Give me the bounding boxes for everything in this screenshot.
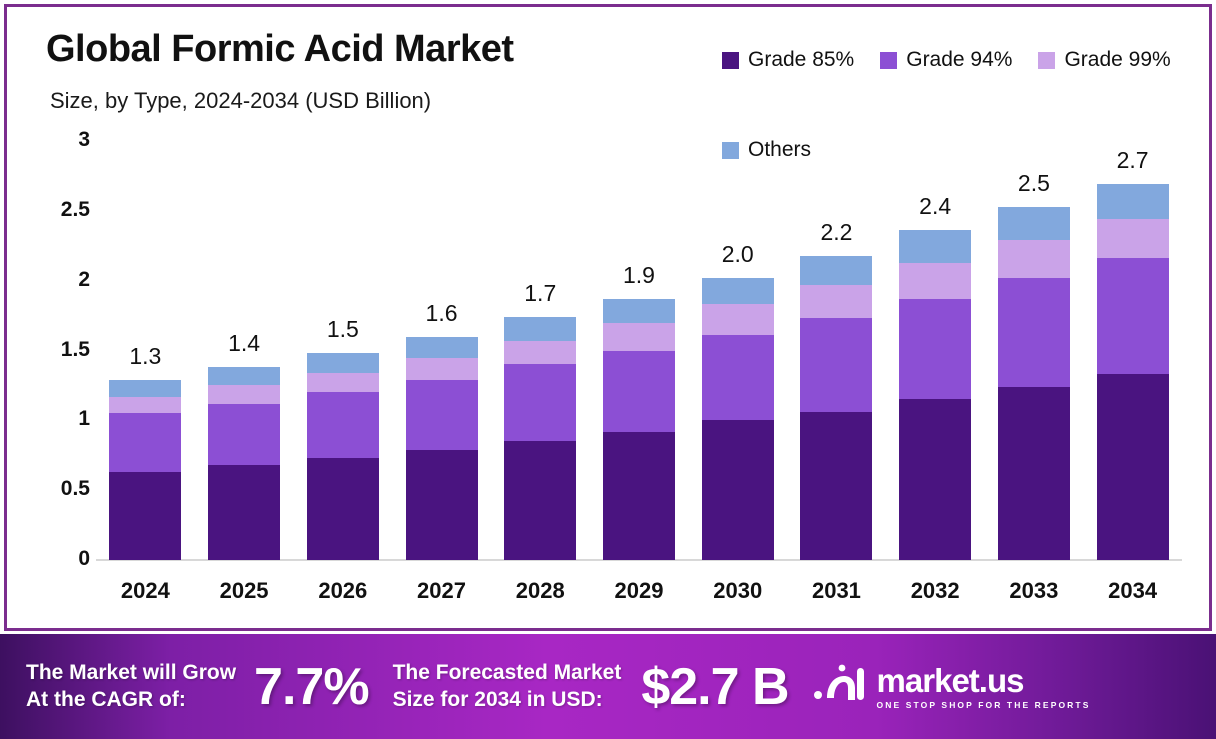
bar-stack-2026[interactable]	[307, 141, 379, 560]
bar-segment-grade-99[interactable]	[899, 263, 971, 299]
cagr-caption: The Market will Grow At the CAGR of:	[26, 660, 236, 713]
legend-swatch-icon	[880, 52, 897, 69]
chart-subtitle: Size, by Type, 2024-2034 (USD Billion)	[50, 88, 431, 114]
y-axis-tick-label: 0	[78, 547, 90, 571]
forecast-caption: The Forecasted Market Size for 2034 in U…	[393, 660, 622, 713]
legend-item-grade-85[interactable]: Grade 85%	[722, 48, 854, 72]
bar-segment-grade-99[interactable]	[109, 397, 181, 414]
legend-label: Grade 85%	[748, 48, 854, 72]
bar-segment-grade-99[interactable]	[800, 285, 872, 319]
bar-segment-others[interactable]	[406, 337, 478, 358]
bar-stack-2029[interactable]	[603, 141, 675, 560]
bar-segment-others[interactable]	[208, 367, 280, 385]
y-axis-tick-label: 0.5	[61, 477, 90, 501]
y-axis-tick-label: 1	[78, 407, 90, 431]
bar-segment-grade-94[interactable]	[406, 380, 478, 450]
footer-banner: The Market will Grow At the CAGR of: 7.7…	[0, 634, 1216, 739]
bar-segment-grade-85[interactable]	[800, 412, 872, 560]
bar-value-label: 2.2	[776, 219, 896, 246]
bar-segment-grade-85[interactable]	[406, 450, 478, 560]
bar-value-label: 2.7	[1073, 147, 1193, 174]
chart-legend-row-1: Grade 85%Grade 94%Grade 99%	[722, 48, 1171, 72]
cagr-caption-line-1: The Market will Grow	[26, 660, 236, 686]
bar-segment-others[interactable]	[702, 278, 774, 305]
bar-segment-grade-85[interactable]	[208, 465, 280, 560]
bar-segment-grade-99[interactable]	[208, 385, 280, 403]
bar-stack-2033[interactable]	[998, 141, 1070, 560]
bar-segment-grade-99[interactable]	[307, 373, 379, 393]
market-us-mark-icon	[811, 662, 867, 711]
bar-segment-grade-94[interactable]	[603, 351, 675, 432]
bar-segment-grade-94[interactable]	[702, 335, 774, 420]
x-axis-labels: 2024202520262027202820292030203120322033…	[96, 578, 1182, 608]
bar-stack-2030[interactable]	[702, 141, 774, 560]
market-us-logo[interactable]: market.us ONE STOP SHOP FOR THE REPORTS	[811, 662, 1091, 711]
legend-item-grade-94[interactable]: Grade 94%	[880, 48, 1012, 72]
bar-stack-2027[interactable]	[406, 141, 478, 560]
bar-segment-others[interactable]	[800, 256, 872, 285]
cagr-value: 7.7%	[254, 657, 369, 717]
legend-label: Grade 94%	[906, 48, 1012, 72]
bar-segment-grade-85[interactable]	[702, 420, 774, 560]
bar-segment-grade-94[interactable]	[1097, 258, 1169, 374]
bar-segment-grade-85[interactable]	[603, 432, 675, 560]
bar-segment-others[interactable]	[998, 207, 1070, 241]
logo-name: market.us	[877, 664, 1091, 697]
bar-stack-2031[interactable]	[800, 141, 872, 560]
bar-segment-grade-94[interactable]	[800, 318, 872, 412]
bar-stack-2034[interactable]	[1097, 141, 1169, 560]
bar-segment-grade-94[interactable]	[504, 364, 576, 441]
bar-segment-grade-99[interactable]	[998, 240, 1070, 278]
bar-segment-grade-94[interactable]	[899, 299, 971, 400]
legend-swatch-icon	[1038, 52, 1055, 69]
cagr-caption-line-2: At the CAGR of:	[26, 687, 236, 713]
logo-tagline: ONE STOP SHOP FOR THE REPORTS	[877, 701, 1091, 710]
forecast-block: The Forecasted Market Size for 2034 in U…	[393, 657, 789, 717]
x-axis-label-2034: 2034	[1073, 578, 1193, 604]
bar-segment-others[interactable]	[307, 353, 379, 373]
y-axis: 00.511.522.53	[30, 132, 90, 564]
bar-segment-grade-94[interactable]	[307, 392, 379, 458]
cagr-block: The Market will Grow At the CAGR of: 7.7…	[26, 657, 369, 717]
forecast-value: $2.7 B	[641, 657, 788, 717]
forecast-caption-line-2: Size for 2034 in USD:	[393, 687, 622, 713]
bar-segment-grade-85[interactable]	[899, 399, 971, 560]
bar-segment-grade-85[interactable]	[307, 458, 379, 560]
market-infographic: Global Formic Acid Market Size, by Type,…	[0, 0, 1216, 739]
forecast-caption-line-1: The Forecasted Market	[393, 660, 622, 686]
bar-segment-grade-85[interactable]	[998, 387, 1070, 560]
bar-segment-others[interactable]	[504, 317, 576, 341]
bar-segment-grade-85[interactable]	[504, 441, 576, 560]
bar-segment-grade-99[interactable]	[1097, 219, 1169, 258]
y-axis-tick-label: 2.5	[61, 198, 90, 222]
page-title: Global Formic Acid Market	[46, 28, 514, 71]
legend-swatch-icon	[722, 52, 739, 69]
legend-item-grade-99[interactable]: Grade 99%	[1038, 48, 1170, 72]
bar-stack-2028[interactable]	[504, 141, 576, 560]
bar-segment-others[interactable]	[899, 230, 971, 262]
bar-segment-grade-94[interactable]	[208, 404, 280, 465]
bar-segment-grade-85[interactable]	[109, 472, 181, 560]
bar-segment-grade-99[interactable]	[702, 304, 774, 335]
bar-chart-plot-area: 1.31.41.51.61.71.92.02.22.42.52.7	[96, 140, 1182, 560]
bar-segment-grade-94[interactable]	[109, 413, 181, 472]
bar-segment-others[interactable]	[1097, 184, 1169, 219]
bar-segment-grade-99[interactable]	[504, 341, 576, 365]
legend-label: Grade 99%	[1064, 48, 1170, 72]
bar-segment-grade-94[interactable]	[998, 278, 1070, 387]
y-axis-tick-label: 3	[78, 128, 90, 152]
bar-segment-grade-99[interactable]	[406, 358, 478, 380]
bar-value-label: 2.4	[875, 193, 995, 220]
bar-segment-grade-85[interactable]	[1097, 374, 1169, 560]
y-axis-tick-label: 2	[78, 268, 90, 292]
bar-segment-others[interactable]	[109, 380, 181, 397]
logo-text: market.us ONE STOP SHOP FOR THE REPORTS	[877, 664, 1091, 710]
bar-segment-grade-99[interactable]	[603, 323, 675, 351]
bar-segment-others[interactable]	[603, 299, 675, 323]
